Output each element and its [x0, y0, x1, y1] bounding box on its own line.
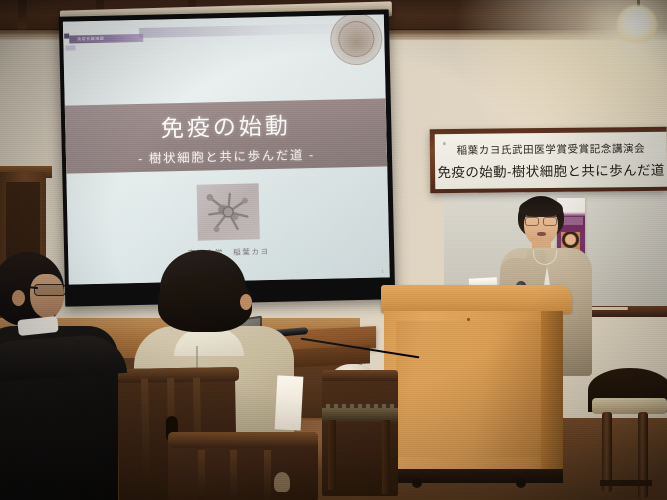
lecture-hall-photo: 免疫会議演題 免疫の始動 - 樹状細胞と共に歩んだ道 - [0, 0, 667, 500]
caster-wheel-icon [412, 478, 422, 488]
dendritic-cell-micrograph-icon [196, 183, 259, 240]
lectern-top [381, 285, 572, 313]
eyeglasses-icon [525, 216, 557, 224]
sign-line-2: 免疫の始動-樹状細胞と共に歩んだ道 [437, 158, 664, 180]
event-sign: 稲葉カヨ氏武田医学賞受賞記念講演会 免疫の始動-樹状細胞と共に歩んだ道 [435, 132, 667, 189]
audience-face [30, 274, 64, 318]
slide-window-title: 免疫会議演題 [69, 36, 104, 43]
slide-title-band: 免疫の始動 - 樹状細胞と共に歩んだ道 - [65, 98, 387, 173]
slide-title: 免疫の始動 [160, 106, 291, 143]
lectern-side [541, 311, 563, 473]
seal-inner-ring [338, 21, 375, 58]
screen-surface: 免疫会議演題 免疫の始動 - 樹状細胞と共に歩んだ道 - [63, 14, 390, 284]
chair-top-rail [113, 367, 239, 383]
chair-stretcher [600, 480, 652, 486]
chair-slat [264, 450, 271, 500]
chair-leg [328, 420, 336, 490]
chair-slat [198, 450, 205, 500]
slide-subtitle: - 樹状細胞と共に歩んだ道 - [138, 144, 315, 167]
chair-foreground-center [168, 432, 318, 500]
audience-hair [158, 274, 252, 332]
chair-far-right [592, 398, 667, 500]
handout-paper [275, 375, 304, 430]
lectern-base [384, 469, 563, 483]
lectern-body [384, 311, 562, 471]
sign-line-1: 稲葉カヨ氏武田医学賞受賞記念講演会 [456, 140, 645, 157]
audience-member-left [0, 252, 122, 500]
chair-slat [230, 450, 237, 500]
speaker-fringe [519, 198, 563, 217]
chair-leg [382, 420, 390, 494]
ceiling-lamp-icon [617, 5, 657, 43]
audience-ear [240, 294, 252, 310]
chair-stage-right [322, 370, 398, 496]
projected-slide: 免疫会議演題 免疫の始動 - 樹状細胞と共に歩んだ道 - [63, 14, 390, 284]
sign-pin-icon [443, 142, 446, 145]
kyoto-university-seal-icon [330, 14, 383, 65]
chair-top-rail [322, 370, 398, 381]
eyeglasses-icon [34, 284, 66, 296]
caster-wheel-icon [516, 478, 526, 488]
ceiling-beam [18, 0, 27, 34]
slide-window-titlebar: 免疫会議演題 [69, 34, 143, 44]
speaker-mouth [537, 232, 546, 236]
wooden-lectern [381, 285, 572, 484]
lectern-panel [396, 321, 544, 457]
chair-top-rail [168, 432, 318, 448]
slide-page-number: 1 [381, 268, 383, 273]
event-sign-frame: 稲葉カヨ氏武田医学賞受賞記念講演会 免疫の始動-樹状細胞と共に歩んだ道 [430, 127, 667, 193]
audience-ear [12, 290, 25, 306]
lectern-knob-icon [467, 318, 470, 321]
chair-ornament [274, 472, 290, 492]
slide-window-subicon [65, 45, 75, 50]
